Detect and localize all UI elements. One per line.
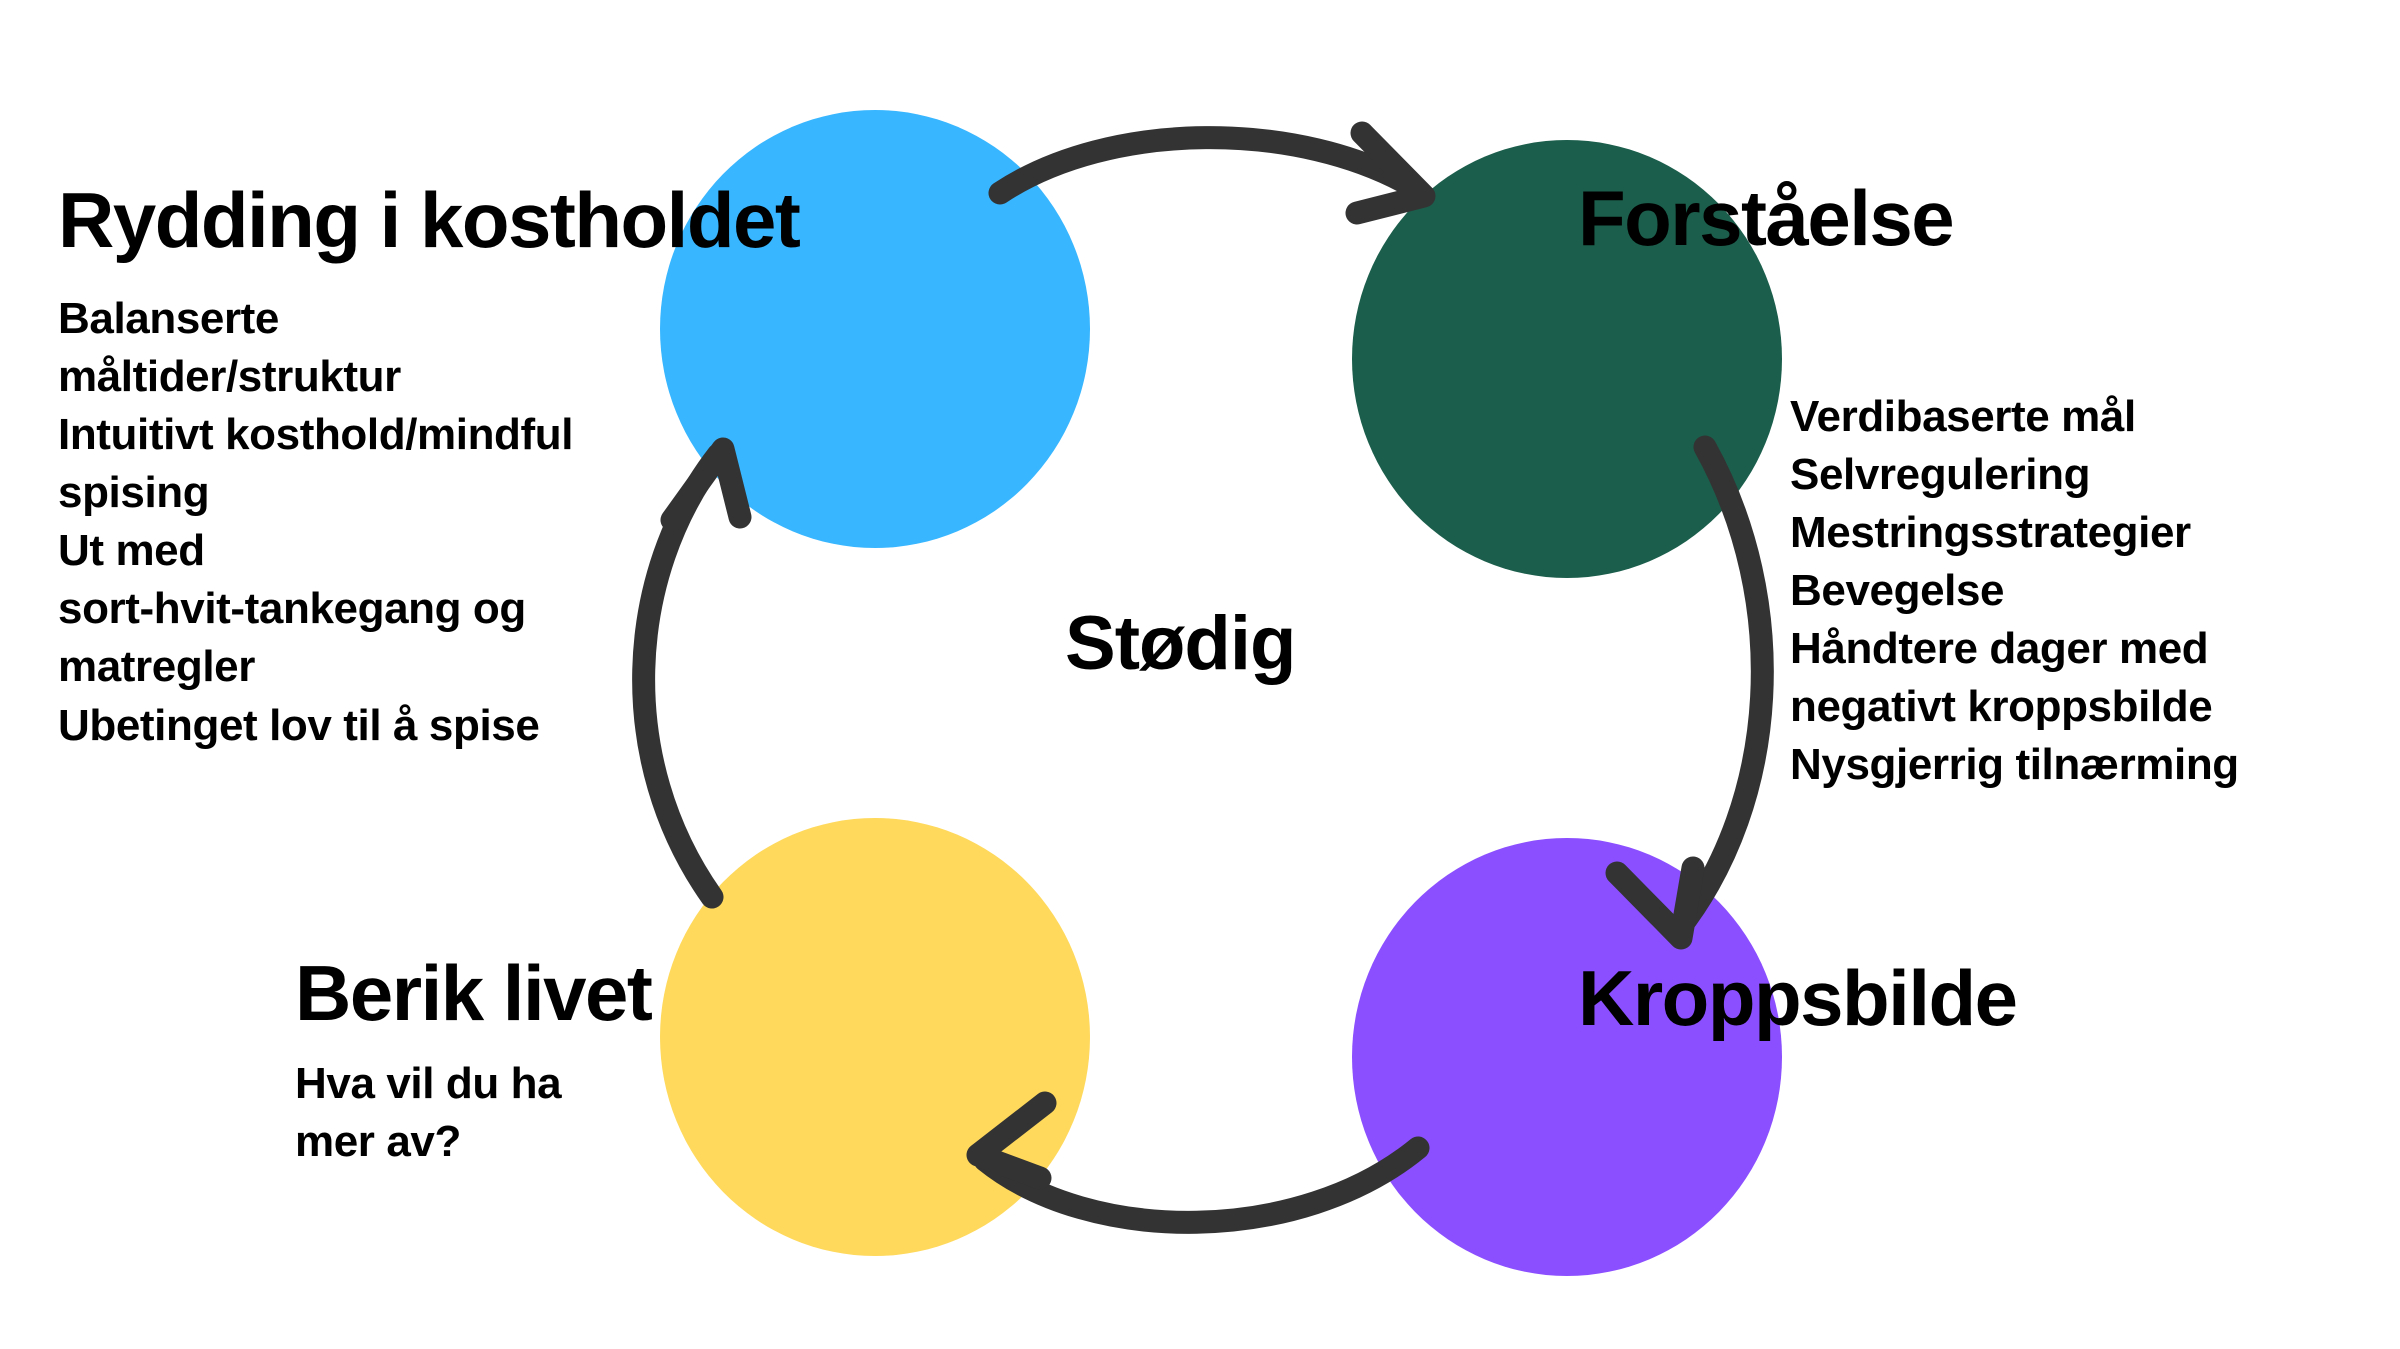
node-items-berik: Hva vil du ha mer av? <box>295 1055 561 1171</box>
node-circle-kroppsbilde <box>1352 838 1782 1276</box>
node-item: Balanserte <box>58 290 573 348</box>
node-item: mer av? <box>295 1113 561 1171</box>
node-title-berik: Berik livet <box>295 955 651 1031</box>
arrow-berik-to-rydding <box>644 449 740 897</box>
node-item: Mestringsstrategier <box>1790 504 2239 562</box>
center-label: Stødig <box>1065 600 1295 687</box>
node-item: Ut med <box>58 522 573 580</box>
node-item: Håndtere dager med <box>1790 620 2239 678</box>
node-item: Intuitivt kosthold/mindful <box>58 406 573 464</box>
node-item: Selvregulering <box>1790 446 2239 504</box>
node-items-rydding: Balanserte måltider/struktur Intuitivt k… <box>58 290 573 755</box>
cycle-diagram-canvas: Rydding i kostholdet Balanserte måltider… <box>0 0 2400 1349</box>
arrow-rydding-to-forstaelse <box>1000 133 1424 213</box>
node-title-rydding: Rydding i kostholdet <box>58 182 799 258</box>
node-item: Verdibaserte mål <box>1790 388 2239 446</box>
node-title-forstaelse: Forståelse <box>1578 180 1953 256</box>
node-title-kroppsbilde: Kroppsbilde <box>1578 960 2017 1036</box>
node-item: matregler <box>58 638 573 696</box>
node-item: Bevegelse <box>1790 562 2239 620</box>
node-item: Hva vil du ha <box>295 1055 561 1113</box>
node-item: spising <box>58 464 573 522</box>
node-circle-berik <box>660 818 1090 1256</box>
node-item: Nysgjerrig tilnærming <box>1790 736 2239 794</box>
node-item: negativt kroppsbilde <box>1790 678 2239 736</box>
node-items-forstaelse: Verdibaserte mål Selvregulering Mestring… <box>1790 388 2239 795</box>
node-item: måltider/struktur <box>58 348 573 406</box>
node-item: Ubetinget lov til å spise <box>58 697 573 755</box>
node-item: sort-hvit-tankegang og <box>58 580 573 638</box>
